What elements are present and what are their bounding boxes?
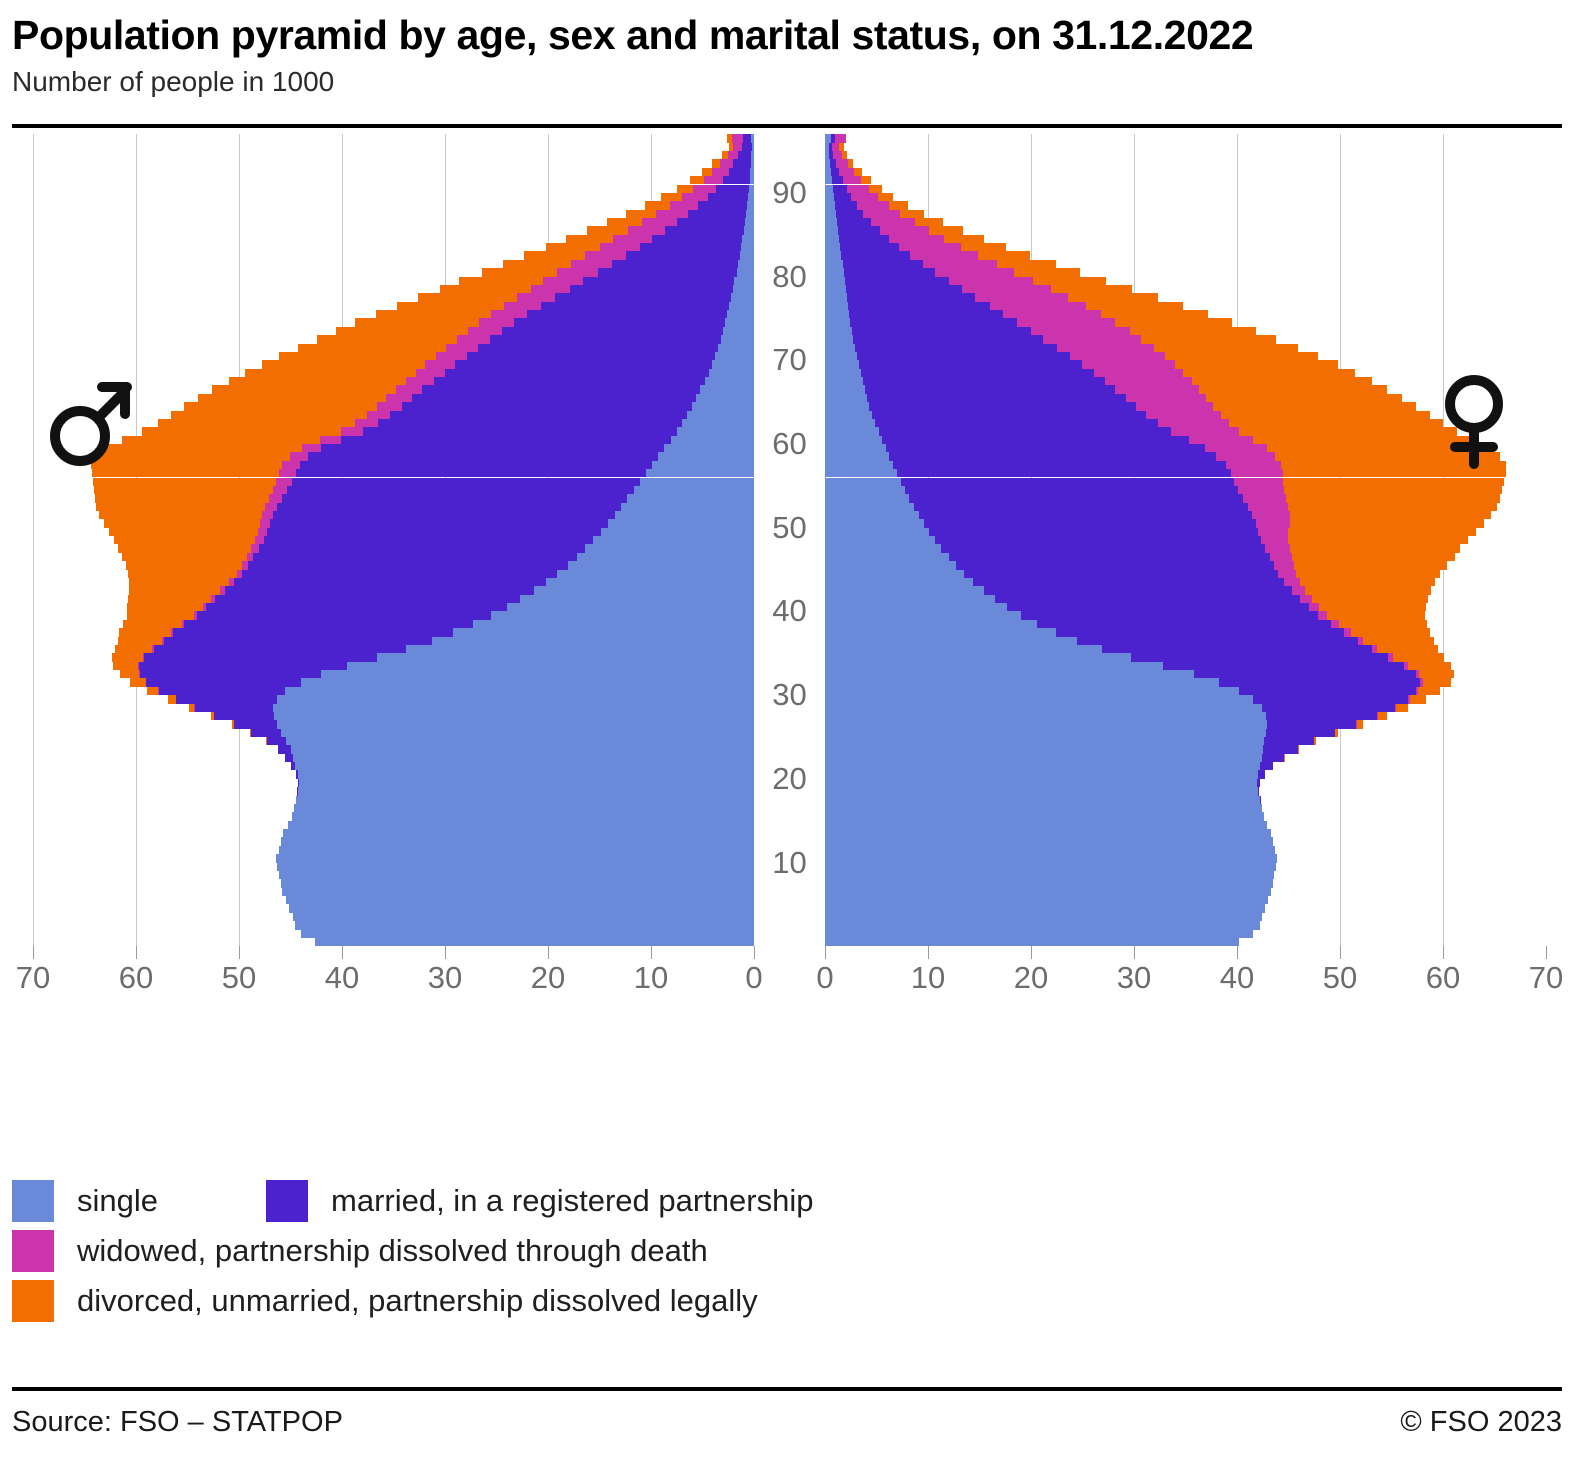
page-title: Population pyramid by age, sex and marit… — [12, 14, 1562, 57]
age-bar-female-69 — [825, 360, 1338, 368]
bar-segment-divorced — [1378, 712, 1387, 720]
age-bar-female-52 — [825, 503, 1497, 511]
bar-segment-widowed — [910, 251, 978, 259]
age-bar-male-15 — [292, 812, 754, 820]
bar-segment-single — [825, 452, 889, 460]
bar-segment-single — [696, 394, 754, 402]
bar-segment-married — [909, 494, 1243, 502]
bar-segment-divorced — [1408, 662, 1451, 670]
age-bar-male-48 — [114, 536, 754, 544]
bar-segment-widowed — [1265, 544, 1290, 552]
bar-segment-single — [825, 486, 905, 494]
legend-swatch-widowed — [12, 1230, 54, 1272]
age-bar-male-7 — [281, 879, 754, 887]
bar-segment-divorced — [1292, 553, 1455, 561]
bar-segment-married — [527, 310, 727, 318]
age-bar-male-41 — [128, 595, 754, 603]
age-bar-female-76 — [825, 302, 1183, 310]
bar-segment-married — [264, 536, 594, 544]
bar-segment-widowed — [1057, 344, 1154, 352]
bar-segment-married — [234, 578, 546, 586]
age-bar-male-86 — [607, 218, 754, 226]
age-bar-male-87 — [626, 210, 754, 218]
bar-segment-widowed — [585, 251, 626, 259]
value-tick-mark-60 — [1443, 946, 1444, 959]
age-bar-male-61 — [142, 427, 754, 435]
bar-segment-single — [723, 327, 754, 335]
bar-segment-single — [825, 553, 949, 561]
bar-segment-widowed — [1292, 586, 1305, 594]
bar-segment-divorced — [1393, 653, 1445, 661]
age-bar-male-23 — [278, 745, 754, 753]
bar-segment-single — [315, 938, 754, 946]
bar-segment-married — [422, 385, 700, 393]
bar-segment-married — [1267, 720, 1357, 728]
age-bar-female-11 — [825, 846, 1275, 854]
bar-segment-divorced — [1154, 344, 1298, 352]
bar-segment-divorced — [900, 210, 924, 218]
value-axis: 706050403020100010203040506070 — [0, 946, 1574, 994]
bar-segment-single — [825, 344, 855, 352]
age-bar-female-83 — [825, 243, 1006, 251]
bar-segment-married — [267, 528, 601, 536]
age-bar-male-24 — [266, 737, 754, 745]
bar-segment-divorced — [1229, 419, 1443, 427]
bar-segment-single — [298, 787, 754, 795]
bar-segment-single — [825, 779, 1257, 787]
value-tick-mark-50 — [239, 946, 240, 959]
bar-segment-single — [377, 653, 754, 661]
bar-segment-married — [677, 218, 745, 226]
bar-segment-married — [1077, 637, 1357, 645]
bar-segment-widowed — [847, 185, 870, 193]
bar-segment-divorced — [929, 226, 963, 234]
age-bar-female-50 — [825, 519, 1484, 527]
male-panel — [33, 134, 754, 946]
value-tick-70: 70 — [1529, 962, 1563, 993]
bar-segment-divorced — [96, 503, 265, 511]
age-bar-male-52 — [96, 503, 754, 511]
age-bar-male-20 — [296, 770, 754, 778]
bar-segment-single — [746, 210, 754, 218]
bar-segment-divorced — [298, 344, 446, 352]
bar-segment-single — [825, 536, 935, 544]
value-tick-mark-0 — [754, 946, 755, 959]
footer-divider — [12, 1387, 1562, 1391]
bar-segment-widowed — [446, 344, 478, 352]
bar-segment-single — [293, 913, 754, 921]
bar-segment-widowed — [355, 419, 378, 427]
age-bar-female-3 — [825, 913, 1262, 921]
value-tick-50: 50 — [1323, 962, 1357, 993]
bar-segment-married — [897, 469, 1231, 477]
age-bar-male-30 — [147, 687, 754, 695]
bar-segment-widowed — [406, 377, 434, 385]
age-bar-male-13 — [283, 829, 754, 837]
bar-segment-single — [729, 302, 754, 310]
value-tick-20: 20 — [531, 962, 565, 993]
bar-segment-divorced — [1396, 704, 1408, 712]
age-bar-male-39 — [127, 611, 754, 619]
bar-segment-married — [1194, 670, 1416, 678]
bar-segment-widowed — [1158, 419, 1229, 427]
bar-segment-single — [825, 770, 1258, 778]
bar-segment-widowed — [720, 159, 733, 167]
bar-segment-single — [825, 369, 861, 377]
bar-segment-divorced — [1175, 360, 1338, 368]
age-bar-male-35 — [115, 645, 754, 653]
bar-segment-divorced — [119, 628, 171, 636]
bar-segment-married — [248, 561, 567, 569]
bar-segment-divorced — [418, 293, 517, 301]
bar-segment-married — [1037, 620, 1331, 628]
bar-segment-married — [929, 528, 1258, 536]
bar-segment-single — [825, 704, 1262, 712]
bar-segment-single — [825, 461, 893, 469]
bar-segment-single — [825, 327, 852, 335]
age-bar-female-77 — [825, 293, 1158, 301]
bar-segment-divorced — [1290, 511, 1492, 519]
bar-segment-married — [973, 578, 1284, 586]
bar-segment-married — [259, 544, 586, 552]
bar-segment-single — [491, 611, 754, 619]
bar-segment-divorced — [120, 670, 140, 678]
bar-segment-widowed — [1216, 452, 1275, 460]
bar-segment-divorced — [587, 226, 628, 234]
age-bar-male-94 — [722, 151, 754, 159]
age-tick-30: 30 — [754, 677, 825, 713]
bar-segment-divorced — [122, 553, 247, 561]
bar-segment-widowed — [693, 185, 716, 193]
value-tick-20: 20 — [1014, 962, 1048, 993]
bar-segment-married — [865, 385, 1115, 393]
bar-segment-married — [321, 444, 664, 452]
bar-segment-single — [731, 293, 754, 301]
age-tick-40: 40 — [754, 593, 825, 629]
bar-segment-married — [855, 344, 1057, 352]
bar-segment-married — [1102, 645, 1372, 653]
bar-segment-married — [847, 293, 976, 301]
bar-segment-married — [490, 335, 721, 343]
bar-segment-married — [879, 427, 1172, 435]
bar-segment-single — [825, 695, 1253, 703]
bar-segment-widowed — [386, 394, 412, 402]
bar-segment-divorced — [122, 436, 321, 444]
bar-segment-married — [282, 494, 627, 502]
bar-segment-married — [640, 243, 741, 251]
age-bar-male-49 — [109, 528, 754, 536]
bar-segment-married — [729, 168, 751, 176]
age-bar-male-58 — [95, 452, 754, 460]
age-bar-female-7 — [825, 879, 1273, 887]
bar-segment-divorced — [118, 544, 251, 552]
age-bar-male-54 — [94, 486, 754, 494]
age-bar-male-63 — [171, 411, 754, 419]
bar-segment-single — [825, 837, 1273, 845]
bar-segment-single — [825, 804, 1262, 812]
bar-segment-divorced — [115, 645, 152, 653]
age-bar-female-21 — [825, 762, 1273, 770]
legend-label-married: married, in a registered partnership — [331, 1183, 813, 1219]
bar-segment-married — [733, 159, 751, 167]
bar-segment-married — [838, 226, 879, 234]
bar-segment-single — [347, 662, 754, 670]
bar-segment-single — [825, 185, 833, 193]
bar-segment-widowed — [1234, 478, 1283, 486]
bar-segment-divorced — [944, 235, 983, 243]
bar-segment-married — [267, 737, 287, 745]
legend-row-1: single married, in a registered partners… — [12, 1176, 1552, 1226]
bar-segment-widowed — [642, 218, 677, 226]
bar-segment-single — [281, 837, 754, 845]
bar-segment-married — [173, 628, 453, 636]
bar-segment-divorced — [229, 377, 406, 385]
bar-segment-single — [825, 737, 1264, 745]
age-tick-60: 60 — [754, 426, 825, 462]
age-bar-female-60 — [825, 436, 1475, 444]
bar-segment-widowed — [628, 226, 665, 234]
bar-segment-single — [621, 503, 754, 511]
bar-segment-widowed — [262, 511, 273, 519]
bar-segment-married — [1131, 653, 1389, 661]
bar-segment-single — [825, 720, 1267, 728]
bar-segment-divorced — [878, 193, 893, 201]
bar-segment-single — [646, 469, 754, 477]
age-bar-female-47 — [825, 544, 1460, 552]
bar-segment-single — [725, 318, 754, 326]
bar-segment-widowed — [468, 327, 502, 335]
age-bar-female-31 — [825, 678, 1451, 686]
bar-segment-married — [139, 662, 347, 670]
age-bar-male-29 — [168, 695, 754, 703]
bar-segment-married — [296, 469, 646, 477]
age-bar-female-37 — [825, 628, 1430, 636]
bar-segment-divorced — [1283, 469, 1505, 477]
age-bar-female-23 — [825, 745, 1298, 753]
value-tick-mark-40 — [342, 946, 343, 959]
bar-segment-single — [825, 277, 845, 285]
bar-segment-single — [825, 879, 1273, 887]
bar-segment-married — [889, 452, 1217, 460]
age-bar-male-67 — [229, 377, 754, 385]
bar-segment-single — [825, 712, 1266, 720]
bar-segment-single — [825, 687, 1239, 695]
value-tick-10: 10 — [911, 962, 945, 993]
age-bar-male-8 — [279, 871, 754, 879]
bar-segment-single — [825, 494, 909, 502]
bar-segment-married — [742, 143, 752, 151]
bar-segment-single — [301, 678, 754, 686]
age-bar-female-75 — [825, 310, 1208, 318]
bar-segment-widowed — [670, 201, 699, 209]
bar-segment-married — [956, 561, 1274, 569]
bar-segment-married — [935, 536, 1260, 544]
bar-segment-single — [406, 645, 754, 653]
bar-segment-widowed — [1094, 369, 1184, 377]
bar-segment-single — [825, 243, 840, 251]
bar-segment-divorced — [317, 335, 457, 343]
age-bar-female-96 — [825, 134, 846, 142]
bar-segment-single — [825, 645, 1102, 653]
age-bar-male-68 — [245, 369, 754, 377]
age-axis: 102030405060708090 — [754, 134, 825, 946]
bar-segment-divorced — [677, 185, 693, 193]
bar-segment-divorced — [915, 218, 944, 226]
bar-segment-widowed — [1226, 461, 1282, 469]
age-bar-female-0 — [825, 938, 1239, 946]
bar-segment-widowed — [1031, 327, 1130, 335]
bar-segment-single — [671, 436, 754, 444]
bar-segment-divorced — [93, 478, 276, 486]
bar-segment-divorced — [1239, 427, 1457, 435]
age-bar-female-38 — [825, 620, 1427, 628]
bar-segment-widowed — [1278, 570, 1296, 578]
age-bar-female-90 — [825, 185, 882, 193]
bar-segment-single — [825, 218, 837, 226]
bar-segment-single — [682, 419, 754, 427]
bar-segment-single — [273, 704, 754, 712]
age-bar-female-44 — [825, 570, 1440, 578]
bar-segment-single — [825, 846, 1275, 854]
bar-segment-single — [608, 519, 754, 527]
bar-segment-married — [893, 461, 1226, 469]
age-bar-female-81 — [825, 260, 1056, 268]
bar-segment-married — [941, 544, 1264, 552]
bar-segment-divorced — [1165, 352, 1318, 360]
bar-segment-single — [825, 871, 1274, 879]
bar-segment-single — [568, 561, 754, 569]
age-bar-female-32 — [825, 670, 1454, 678]
age-bar-female-51 — [825, 511, 1491, 519]
bar-segment-single — [825, 260, 843, 268]
bar-segment-single — [705, 377, 754, 385]
bar-segment-widowed — [962, 285, 1051, 293]
female-symbol-icon — [1438, 374, 1510, 470]
bar-segment-married — [184, 620, 472, 628]
age-bar-male-95 — [729, 143, 754, 151]
bar-segment-married — [390, 411, 687, 419]
bar-segment-married — [300, 461, 652, 469]
chart-footer: Source: FSO – STATPOP © FSO 2023 — [12, 1406, 1562, 1439]
bar-segment-single — [825, 762, 1260, 770]
bar-segment-married — [1257, 779, 1260, 787]
header-divider — [12, 124, 1562, 128]
age-bar-male-3 — [293, 913, 754, 921]
bar-segment-widowed — [1115, 385, 1198, 393]
bar-segment-divorced — [1284, 486, 1501, 494]
bar-segment-single — [727, 310, 754, 318]
bar-segment-single — [664, 444, 754, 452]
bar-segment-divorced — [607, 218, 642, 226]
bar-segment-divorced — [1357, 720, 1363, 728]
age-bar-male-72 — [317, 335, 754, 343]
bar-segment-married — [845, 277, 949, 285]
bar-segment-single — [734, 277, 754, 285]
age-bar-male-38 — [123, 620, 754, 628]
bar-segment-married — [841, 251, 910, 259]
male-symbol-icon — [48, 378, 134, 470]
bar-segment-single — [277, 695, 754, 703]
bar-segment-married — [852, 327, 1031, 335]
bar-segment-single — [825, 938, 1239, 946]
age-bar-male-28 — [189, 704, 754, 712]
bar-segment-married — [467, 352, 715, 360]
bar-segment-divorced — [130, 678, 145, 686]
bar-segment-single — [534, 586, 754, 594]
age-bar-female-49 — [825, 528, 1476, 536]
bar-segment-single — [593, 536, 754, 544]
bar-segment-married — [844, 268, 936, 276]
bar-segment-married — [857, 352, 1070, 360]
bar-segment-married — [242, 570, 557, 578]
bar-segment-single — [692, 402, 754, 410]
bar-segment-married — [964, 570, 1278, 578]
bar-segment-divorced — [1290, 519, 1485, 527]
bar-segment-married — [1219, 678, 1420, 686]
age-bar-female-70 — [825, 352, 1318, 360]
value-tick-60: 60 — [1426, 962, 1460, 993]
age-bar-female-86 — [825, 218, 943, 226]
bar-segment-married — [1056, 628, 1344, 636]
age-bar-male-65 — [198, 394, 754, 402]
bar-segment-single — [286, 896, 754, 904]
bar-segment-single — [825, 318, 850, 326]
bar-segment-married — [1258, 787, 1259, 795]
age-bar-female-34 — [825, 653, 1444, 661]
age-bar-male-83 — [546, 243, 754, 251]
bar-segment-divorced — [440, 285, 531, 293]
bar-segment-widowed — [273, 486, 287, 494]
bar-segment-single — [687, 411, 754, 419]
bar-segment-divorced — [123, 620, 182, 628]
value-tick-mark-70 — [1546, 946, 1547, 959]
bar-segment-divorced — [1298, 745, 1299, 753]
bar-segment-single — [825, 394, 867, 402]
bar-segment-married — [1263, 745, 1298, 753]
bar-segment-married — [154, 645, 406, 653]
age-bar-female-33 — [825, 662, 1451, 670]
age-bar-male-85 — [587, 226, 754, 234]
bar-segment-widowed — [504, 302, 541, 310]
bar-segment-married — [434, 377, 705, 385]
bar-segment-single — [289, 904, 754, 912]
age-bar-female-55 — [825, 478, 1504, 486]
bar-segment-married — [273, 511, 615, 519]
bar-segment-married — [251, 729, 281, 737]
bar-segment-married — [859, 360, 1083, 368]
bar-segment-divorced — [1213, 402, 1416, 410]
bar-segment-married — [949, 553, 1270, 561]
age-bar-female-17 — [825, 796, 1260, 804]
bar-segment-married — [234, 720, 277, 728]
bar-segment-divorced — [279, 352, 436, 360]
bar-segment-divorced — [129, 578, 229, 586]
age-bar-male-19 — [298, 779, 754, 787]
bar-segment-married — [919, 511, 1253, 519]
bar-segment-single — [473, 620, 754, 628]
bar-segment-divorced — [861, 176, 871, 184]
bar-segment-widowed — [1070, 352, 1165, 360]
age-bar-male-12 — [281, 837, 754, 845]
bar-segment-married — [583, 277, 734, 285]
chart-header: Population pyramid by age, sex and marit… — [0, 0, 1574, 98]
bar-segment-divorced — [128, 570, 236, 578]
bar-segment-single — [274, 712, 754, 720]
bar-segment-single — [825, 930, 1253, 938]
bar-segment-divorced — [1115, 318, 1231, 326]
bar-segment-widowed — [320, 436, 341, 444]
bar-segment-divorced — [198, 394, 386, 402]
